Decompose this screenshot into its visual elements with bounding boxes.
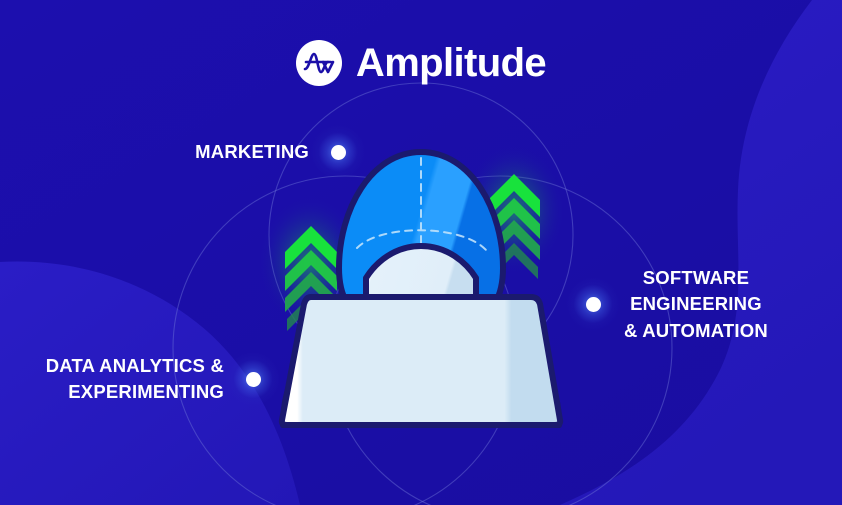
- brand-lockup: Amplitude: [0, 40, 842, 86]
- node-dot-icon[interactable]: [226, 352, 280, 406]
- node-data-analytics-label: DATA ANALYTICS & EXPERIMENTING: [46, 353, 224, 406]
- brand-name: Amplitude: [356, 43, 546, 83]
- node-marketing-label: MARKETING: [195, 139, 309, 165]
- node-dot-icon[interactable]: [311, 125, 365, 179]
- node-software-engineering-label: SOFTWARE ENGINEERING & AUTOMATION: [624, 265, 768, 344]
- node-software-engineering[interactable]: SOFTWARE ENGINEERING & AUTOMATION: [566, 265, 836, 344]
- node-dot-icon[interactable]: [566, 277, 620, 331]
- infographic-canvas: Amplitude MARKETING DATA ANALYTICS & EXP…: [0, 0, 842, 505]
- node-marketing[interactable]: MARKETING: [150, 125, 365, 179]
- laptop-screen: [282, 297, 560, 425]
- node-data-analytics[interactable]: DATA ANALYTICS & EXPERIMENTING: [8, 352, 280, 406]
- amplitude-logo-icon: [296, 40, 342, 86]
